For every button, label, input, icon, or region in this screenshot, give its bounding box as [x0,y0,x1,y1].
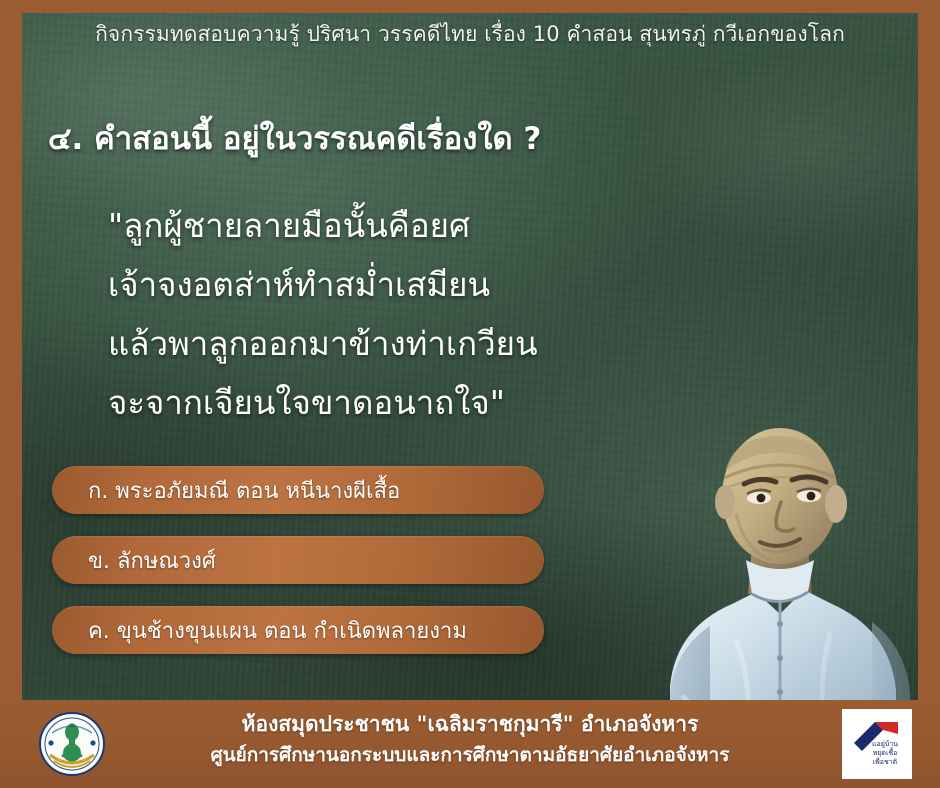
library-name: ห้องสมุดประชาชน "เฉลิมราชกุมารี" อำเภอจั… [120,708,820,740]
poem-line: เจ้าจงอตส่าห์ทำสม่ำเสมียน [108,255,538,314]
footer-bar: ห้องสมุดประชาชน "เฉลิมราชกุมารี" อำเภอจั… [0,700,940,788]
answer-choice-list: ก. พระอภัยมณี ตอน หนีนางผีเสื้อ ข. ลักษณ… [52,466,544,676]
center-name: ศูนย์การศึกษานอกระบบและการศึกษาตามอัธยาศ… [120,740,820,771]
footer-text-block: ห้องสมุดประชาชน "เฉลิมราชกุมารี" อำเภอจั… [120,708,820,771]
answer-choice-b[interactable]: ข. ลักษณวงศ์ [52,536,544,584]
answer-choice-c-label: ค. ขุนช้างขุนแผน ตอน กำเนิดพลายงาม [52,613,467,648]
svg-text:แอยู่บ้าน: แอยู่บ้าน [872,740,898,748]
answer-choice-b-label: ข. ลักษณวงศ์ [52,543,216,578]
stay-home-campaign-logo: แอยู่บ้าน หยุดเชื้อ เพื่อชาติ [842,709,912,779]
page-title: กิจกรรมทดสอบความรู้ ปริศนา วรรคดีไทย เรื… [0,18,940,51]
quiz-slide: กิจกรรมทดสอบความรู้ ปริศนา วรรคดีไทย เรื… [0,0,940,788]
answer-choice-c[interactable]: ค. ขุนช้างขุนแผน ตอน กำเนิดพลายงาม [52,606,544,654]
answer-choice-a[interactable]: ก. พระอภัยมณี ตอน หนีนางผีเสื้อ [52,466,544,514]
svg-text:เพื่อชาติ: เพื่อชาติ [873,757,898,766]
poem-quote: "ลูกผู้ชายลายมือนั้นคือยศ เจ้าจงอตส่าห์ท… [108,196,538,432]
government-seal-icon [38,711,106,777]
poem-line: จะจากเจียนใจขาดอนาถใจ" [108,373,538,432]
poem-line: แล้วพาลูกออกมาข้างท่าเกวียน [108,314,538,373]
question-text: ๔. คำสอนนี้ อยู่ในวรรณคดีเรื่องใด ? [48,113,541,163]
poem-line: "ลูกผู้ชายลายมือนั้นคือยศ [108,196,538,255]
answer-choice-a-label: ก. พระอภัยมณี ตอน หนีนางผีเสื้อ [52,473,400,508]
